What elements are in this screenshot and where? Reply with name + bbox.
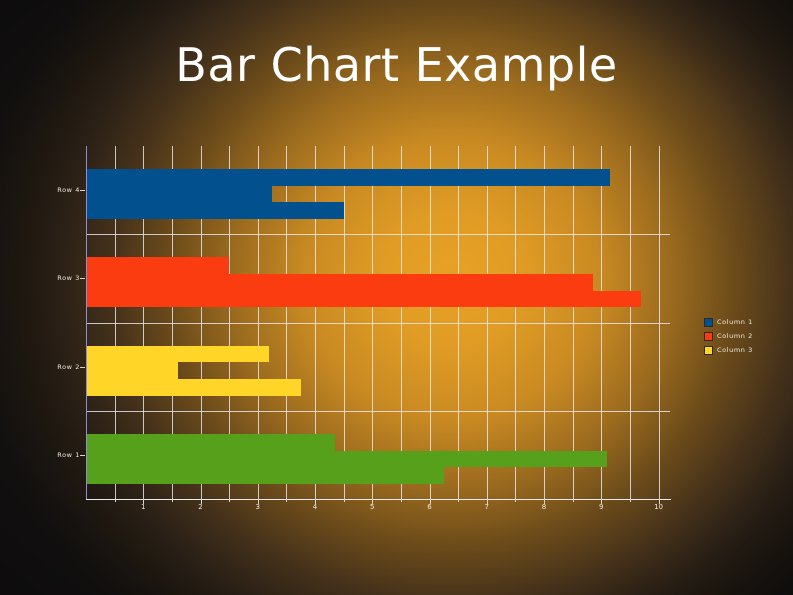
y-tick-mark [80, 278, 85, 279]
plot-area [86, 146, 670, 499]
bar-segment [86, 274, 593, 291]
bar-segment [86, 169, 610, 186]
bar-segment [86, 379, 301, 396]
legend-swatch-icon [704, 332, 713, 341]
x-tick-mark [286, 499, 287, 502]
x-tick-label: 5 [370, 503, 374, 511]
gridline-horizontal [86, 411, 670, 412]
y-tick-label: Row 2 [57, 363, 80, 371]
x-tick-mark [458, 499, 459, 502]
legend-item[interactable]: Column 3 [704, 344, 753, 356]
x-tick-label: 3 [256, 503, 260, 511]
bar-segment [86, 257, 229, 274]
x-tick-label: 6 [427, 503, 431, 511]
gridline-horizontal [86, 234, 670, 235]
bar-segment [86, 451, 607, 468]
bar-segment [86, 346, 269, 363]
x-axis-line [86, 499, 671, 500]
x-tick-mark [573, 499, 574, 502]
x-tick-label: 8 [542, 503, 546, 511]
y-tick-mark [80, 455, 85, 456]
y-tick-mark [80, 367, 85, 368]
x-tick-label: 9 [599, 503, 603, 511]
gridline-horizontal [86, 323, 670, 324]
legend-item[interactable]: Column 2 [704, 330, 753, 342]
x-tick-mark [115, 499, 116, 502]
bar-segment [86, 186, 272, 203]
y-tick-label: Row 1 [57, 451, 80, 459]
y-tick-mark [80, 190, 85, 191]
x-tick-mark [229, 499, 230, 502]
y-axis-line [86, 146, 87, 500]
legend-item-label: Column 3 [717, 346, 753, 354]
legend-item-label: Column 2 [717, 332, 753, 340]
bar-segment [86, 467, 444, 484]
chart-legend: Column 1Column 2Column 3 [704, 316, 753, 358]
y-tick-label: Row 4 [57, 186, 80, 194]
legend-item[interactable]: Column 1 [704, 316, 753, 328]
bar-segment [86, 362, 178, 379]
legend-item-label: Column 1 [717, 318, 753, 326]
x-tick-mark [630, 499, 631, 502]
x-tick-label: 10 [654, 503, 663, 511]
bar-segment [86, 434, 335, 451]
x-tick-mark [344, 499, 345, 502]
page-title: Bar Chart Example [0, 40, 793, 91]
x-tick-label: 1 [141, 503, 145, 511]
bar-segment [86, 202, 344, 219]
x-tick-mark [172, 499, 173, 502]
x-tick-mark [401, 499, 402, 502]
legend-swatch-icon [704, 346, 713, 355]
chart-screenshot: Bar Chart Example 12345678910 Row 4Row 3… [0, 0, 793, 595]
y-tick-label: Row 3 [57, 274, 80, 282]
x-tick-label: 4 [313, 503, 317, 511]
x-tick-mark [515, 499, 516, 502]
x-tick-label: 7 [485, 503, 489, 511]
bar-segment [86, 291, 641, 308]
legend-swatch-icon [704, 318, 713, 327]
x-tick-label: 2 [198, 503, 202, 511]
